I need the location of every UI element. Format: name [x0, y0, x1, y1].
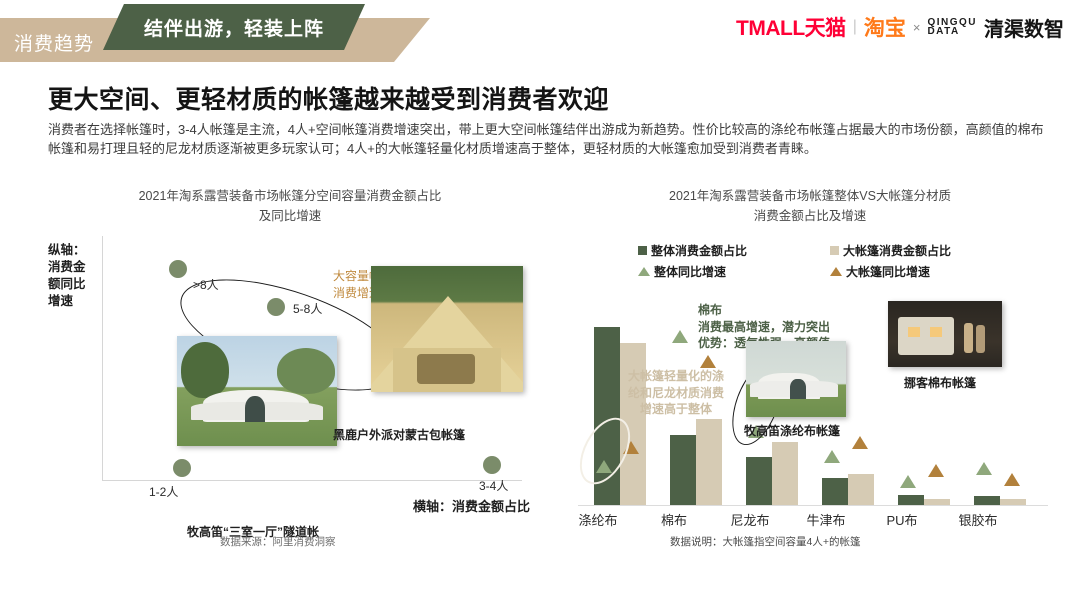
qingqu-logo-line2: DATA [927, 27, 977, 36]
right-chart-panel: 2021年淘系露营装备市场帐篷整体VS大帐篷分材质 消费金额占比及增速 整体消费… [560, 186, 1060, 531]
legend-triangle-icon-bigtent-growth [830, 267, 842, 276]
scatter-label-1to2: 1-2人 [149, 483, 178, 500]
slide-root: 消费趋势 结伴出游，轻装上阵 TMALL天猫 | 淘宝 × QINGQU DAT… [0, 0, 1080, 603]
x-tick-polyester: 涤纶布 [558, 510, 638, 529]
marker-overall-growth-oxford[interactable] [824, 450, 840, 463]
photo-yurt-tent [371, 266, 523, 392]
brand-logos: TMALL天猫 | 淘宝 × QINGQU DATA 清渠数智 [736, 12, 1064, 42]
legend-item-overall-growth[interactable]: 整体同比增速 [638, 263, 824, 280]
right-callout-light-line3: 增速高于整体 [616, 401, 736, 418]
qingqu-cn-logo: 清渠数智 [984, 13, 1064, 42]
scatter-label-3to4: 3-4人 [479, 477, 508, 494]
legend-triangle-icon-overall-growth [638, 267, 650, 276]
photo-polyester-tent [746, 341, 846, 417]
legend-label-overall-share: 整体消费金额占比 [651, 242, 747, 259]
scatter-point-over8[interactable] [169, 260, 187, 278]
legend-square-icon-overall [638, 246, 647, 255]
bar-bigtent-nylon[interactable] [772, 442, 798, 505]
left-chart-title-line2: 及同比增速 [40, 206, 540, 226]
brand-cross-icon: × [913, 20, 921, 35]
right-callout-cotton-line1: 棉布 [698, 302, 830, 319]
bar-bigtent-pu[interactable] [924, 499, 950, 505]
header-kicker: 消费趋势 [14, 29, 94, 56]
legend-label-bigtent-growth: 大帐篷同比增速 [846, 263, 930, 280]
left-chart-title-line1: 2021年淘系露营装备市场帐篷分空间容量消费金额占比 [40, 186, 540, 206]
right-callout-cotton-line2: 消费最高增速，潜力突出 [698, 319, 830, 336]
left-chart-x-axis-label: 横轴：消费金额占比 [413, 496, 530, 515]
scatter-label-over8: >8人 [193, 276, 219, 293]
legend-square-icon-bigtent [830, 246, 839, 255]
scatter-point-1to2[interactable] [173, 459, 191, 477]
right-callout-light-line2: 纶和尼龙材质消费 [616, 385, 736, 402]
marker-overall-growth-cotton[interactable] [672, 330, 688, 343]
left-chart-y-axis-label: 纵轴：消费金额同比增速 [48, 242, 94, 310]
right-callout-light-line1: 大帐篷轻量化的涤 [616, 368, 736, 385]
marker-bigtent-growth-oxford[interactable] [852, 436, 868, 449]
right-photo-caption-1: 牧高笛涤纶布帐篷 [744, 422, 840, 439]
right-chart-title-line1: 2021年淘系露营装备市场帐篷整体VS大帐篷分材质 [560, 186, 1060, 206]
scatter-point-3to4[interactable] [483, 456, 501, 474]
right-callout-lightweight: 大帐篷轻量化的涤 纶和尼龙材质消费 增速高于整体 [616, 368, 736, 418]
marker-overall-growth-silver[interactable] [976, 462, 992, 475]
left-chart-source: 数据来源：阿里消费洞察 [220, 534, 336, 549]
bar-overall-cotton[interactable] [670, 435, 696, 505]
x-tick-nylon: 尼龙布 [710, 510, 790, 529]
bar-overall-pu[interactable] [898, 495, 924, 505]
right-chart-title-line2: 消费金额占比及增速 [560, 206, 1060, 226]
left-chart-panel: 2021年淘系露营装备市场帐篷分空间容量消费金额占比 及同比增速 纵轴：消费金额… [40, 186, 540, 531]
scatter-point-5to8[interactable] [267, 298, 285, 316]
bar-overall-silver[interactable] [974, 496, 1000, 505]
page-title: 更大空间、更轻材质的帐篷越来越受到消费者欢迎 [48, 80, 609, 116]
marker-overall-growth-pu[interactable] [900, 475, 916, 488]
bar-overall-oxford[interactable] [822, 478, 848, 505]
bar-bigtent-oxford[interactable] [848, 474, 874, 505]
scatter-label-5to8: 5-8人 [293, 300, 322, 317]
photo-tunnel-tent [177, 336, 337, 446]
x-tick-pu: PU布 [862, 510, 942, 529]
page-paragraph: 消费者在选择帐篷时，3-4人帐篷是主流，4人+空间帐篷消费增速突出，带上更大空间… [48, 120, 1048, 158]
legend-item-bigtent-share[interactable]: 大帐篷消费金额占比 [830, 242, 951, 259]
qingqu-data-logo: QINGQU DATA [927, 18, 977, 36]
bar-bigtent-cotton[interactable] [696, 419, 722, 505]
x-tick-cotton: 棉布 [634, 510, 714, 529]
bar-overall-nylon[interactable] [746, 457, 772, 505]
x-tick-oxford: 牛津布 [786, 510, 866, 529]
right-chart-note: 数据说明：大帐篷指空间容量4人+的帐篷 [670, 534, 860, 549]
photo-cotton-tent [888, 301, 1002, 367]
left-chart-plot-area: >8人 5-8人 1-2人 3-4人 大容量帐篷 消费增速突出 [102, 236, 522, 481]
taobao-logo: 淘宝 [864, 12, 906, 42]
marker-bigtent-growth-pu[interactable] [928, 464, 944, 477]
left-photo-caption-2: 黑鹿户外派对蒙古包帐篷 [333, 426, 465, 443]
marker-bigtent-growth-cotton[interactable] [700, 355, 716, 368]
bar-bigtent-silver[interactable] [1000, 499, 1026, 505]
legend-item-overall-share[interactable]: 整体消费金额占比 [638, 242, 824, 259]
legend-item-bigtent-growth[interactable]: 大帐篷同比增速 [830, 263, 930, 280]
right-photo-caption-2: 挪客棉布帐篷 [904, 374, 976, 391]
right-chart-legend: 整体消费金额占比 大帐篷消费金额占比 整体同比增速 大帐篷同比增速 [638, 242, 998, 284]
legend-label-overall-growth: 整体同比增速 [654, 263, 726, 280]
legend-label-bigtent-share: 大帐篷消费金额占比 [843, 242, 951, 259]
brand-divider: | [853, 18, 857, 36]
tmall-logo: TMALL天猫 [736, 12, 846, 42]
x-tick-silver: 银胶布 [938, 510, 1018, 529]
marker-bigtent-growth-silver[interactable] [1004, 473, 1020, 486]
header-ribbon-label: 结伴出游，轻装上阵 [103, 4, 365, 50]
